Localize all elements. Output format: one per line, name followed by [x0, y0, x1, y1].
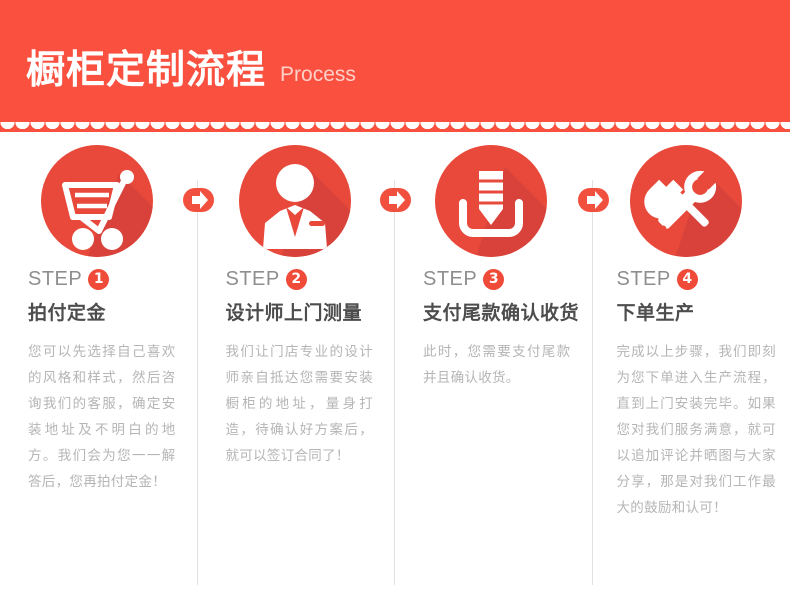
step-label-group: STEP 4 [617, 266, 777, 292]
step-icon-row [0, 132, 198, 258]
process-steps: STEP 1 拍付定金 您可以先选择自己喜欢的风格和样式，然后咨询我们的客服，确… [0, 132, 790, 609]
step-word: STEP [226, 268, 280, 291]
arrow-right-icon [578, 188, 609, 212]
step-label-group: STEP 2 [226, 266, 374, 292]
step-icon-row [198, 132, 396, 258]
step-number-badge: 2 [286, 269, 307, 290]
step-title: 下单生产 [617, 301, 777, 325]
arrow-right-icon [380, 188, 411, 212]
step-description: 您可以先选择自己喜欢的风格和样式，然后咨询我们的客服，确定安装地址及不明白的地方… [28, 339, 176, 495]
step-title: 设计师上门测量 [226, 301, 374, 325]
step-label-group: STEP 1 [28, 266, 176, 292]
step-icon-row [395, 132, 593, 258]
page-header: 橱柜定制流程 Process [0, 0, 790, 132]
process-step-3: STEP 3 支付尾款确认收货 此时，您需要支付尾款并且确认收货。 [395, 132, 593, 609]
process-step-4: STEP 4 下单生产 完成以上步骤，我们即刻为您下单进入生产流程，直到上门安装… [593, 132, 790, 609]
step-number-badge: 3 [483, 269, 504, 290]
step-number-badge: 1 [88, 269, 109, 290]
step-word: STEP [28, 268, 82, 291]
step-description: 此时，您需要支付尾款并且确认收货。 [423, 339, 571, 391]
step-word: STEP [423, 268, 477, 291]
step-description: 完成以上步骤，我们即刻为您下单进入生产流程，直到上门安装完毕。如果您对我们服务满… [617, 339, 777, 521]
scalloped-edge-decoration [0, 118, 790, 132]
step-text-block: STEP 1 拍付定金 您可以先选择自己喜欢的风格和样式，然后咨询我们的客服，确… [0, 266, 198, 495]
hammer-wrench-tools-icon [630, 145, 742, 257]
step-number-badge: 4 [677, 269, 698, 290]
step-title: 拍付定金 [28, 301, 176, 325]
step-word: STEP [617, 268, 671, 291]
step-text-block: STEP 4 下单生产 完成以上步骤，我们即刻为您下单进入生产流程，直到上门安装… [593, 266, 790, 521]
arrow-right-icon [183, 188, 214, 212]
designer-person-icon [239, 145, 351, 257]
download-inbox-icon [435, 145, 547, 257]
shopping-cart-icon [41, 145, 153, 257]
header-title-group: 橱柜定制流程 Process [26, 48, 356, 94]
step-text-block: STEP 3 支付尾款确认收货 此时，您需要支付尾款并且确认收货。 [395, 266, 593, 391]
page-subtitle: Process [280, 61, 356, 94]
step-text-block: STEP 2 设计师上门测量 我们让门店专业的设计师亲自抵达您需要安装橱柜的地址… [198, 266, 396, 469]
page-title: 橱柜定制流程 [26, 48, 266, 94]
step-description: 我们让门店专业的设计师亲自抵达您需要安装橱柜的地址，量身打造，待确认好方案后，就… [226, 339, 374, 469]
step-icon-row [593, 132, 790, 258]
step-label-group: STEP 3 [423, 266, 571, 292]
process-step-2: STEP 2 设计师上门测量 我们让门店专业的设计师亲自抵达您需要安装橱柜的地址… [198, 132, 396, 609]
step-title: 支付尾款确认收货 [423, 301, 571, 325]
process-step-1: STEP 1 拍付定金 您可以先选择自己喜欢的风格和样式，然后咨询我们的客服，确… [0, 132, 198, 609]
